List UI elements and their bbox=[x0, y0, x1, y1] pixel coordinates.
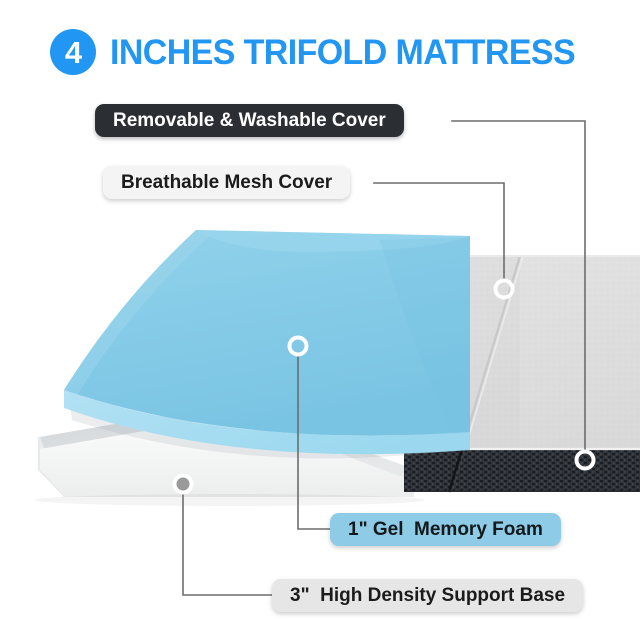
callout-text: Breathable Mesh Cover bbox=[121, 173, 332, 192]
callout-label-mesh-cover[interactable]: Breathable Mesh Cover bbox=[103, 166, 350, 199]
infographic-canvas: 4 INCHES TRIFOLD MATTRESS bbox=[0, 0, 640, 640]
callout-label-removable-cover[interactable]: Removable & Washable Cover bbox=[95, 104, 404, 137]
marker-support-base bbox=[175, 476, 192, 493]
callout-text: 3" High Density Support Base bbox=[290, 586, 565, 605]
callout-text: 1" Gel Memory Foam bbox=[348, 520, 543, 539]
callout-text: Removable & Washable Cover bbox=[113, 111, 386, 130]
gel-memory-foam-layer bbox=[64, 230, 470, 458]
leader-line-support-base bbox=[183, 492, 272, 595]
callout-label-gel-memory-foam[interactable]: 1" Gel Memory Foam bbox=[330, 513, 561, 546]
callout-label-support-base[interactable]: 3" High Density Support Base bbox=[272, 579, 583, 612]
